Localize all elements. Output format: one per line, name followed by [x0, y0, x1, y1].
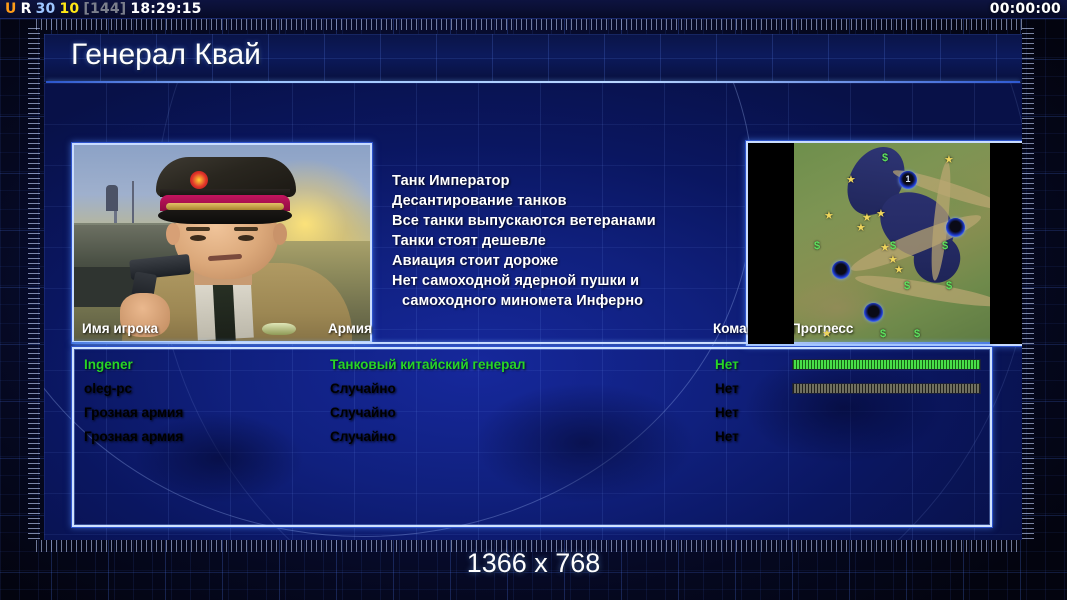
status-timer: 00:00:00	[990, 0, 1061, 19]
portrait-eyebrow	[186, 227, 210, 231]
map-preview[interactable]: 1★★★★★★★★★★$$$$$$$$	[746, 141, 1022, 346]
map-start-position	[832, 261, 850, 279]
map-start-position	[946, 218, 965, 237]
ruler-top	[36, 18, 1026, 30]
description-line: Десантирование танков	[392, 191, 728, 211]
ruler-right	[1022, 28, 1034, 540]
status-bar-left: UR3010[144]18:29:15	[5, 0, 206, 19]
table-row[interactable]: IngenerТанковый китайский генералНет	[74, 353, 990, 377]
page-title: Генерал Квай	[71, 38, 261, 72]
status-prefix-u: U	[5, 1, 17, 17]
map-tech-building-icon: ★	[824, 211, 834, 222]
map-tech-building-icon: ★	[876, 209, 886, 220]
description-line: Танк Император	[392, 171, 728, 191]
map-tech-building-icon: ★	[856, 223, 866, 234]
cell-team: Нет	[715, 401, 739, 425]
table-row[interactable]: oleg-pcСлучайноНет	[74, 377, 990, 401]
portrait-cap-badge	[190, 171, 208, 189]
status-value-yellow: 10	[59, 1, 79, 17]
progress-bar	[792, 359, 981, 370]
description-line: самоходного миномета Инферно	[392, 291, 728, 311]
map-supply-icon: $	[942, 241, 948, 252]
cell-team: Нет	[715, 425, 739, 449]
overlay-status-bar: UR3010[144]18:29:15 00:00:00	[0, 0, 1067, 19]
map-supply-icon: $	[882, 153, 888, 164]
description-line: Авиация стоит дороже	[392, 251, 728, 271]
map-tech-building-icon: ★	[944, 155, 954, 166]
map-tech-building-icon: ★	[822, 329, 832, 340]
cell-team: Нет	[715, 353, 739, 377]
progress-bar	[792, 383, 981, 394]
map-tech-building-icon: ★	[880, 243, 890, 254]
cell-army: Танковый китайский генерал	[330, 353, 526, 377]
portrait-ear	[166, 223, 180, 245]
map-supply-icon: $	[890, 241, 896, 252]
portrait-eye	[190, 235, 206, 241]
status-bracket-value: [144]	[83, 1, 126, 17]
status-clock: 18:29:15	[130, 1, 201, 17]
map-supply-icon: $	[904, 281, 910, 292]
column-header-player: Имя игрока	[82, 321, 158, 336]
general-info-row: Танк Император Десантирование танков Все…	[44, 83, 1022, 308]
status-value-blue: 30	[36, 1, 56, 17]
window-title-bar: Генерал Квай	[44, 34, 1022, 82]
cell-player-name: Ingener	[84, 353, 133, 377]
footer: 1366 x 768	[0, 548, 1067, 592]
cell-player-name: Грозная армия	[84, 425, 183, 449]
portrait-cap-gold-cord	[166, 203, 284, 210]
table-header-separator	[72, 342, 992, 344]
ruler-left	[28, 28, 40, 540]
window-body: Танк Император Десантирование танков Все…	[44, 83, 1022, 540]
player-list-panel[interactable]: IngenerТанковый китайский генералНетoleg…	[72, 347, 992, 527]
map-letterbox-left	[748, 143, 794, 344]
lobby-window: Генерал Квай	[44, 34, 1022, 540]
cell-player-name: Грозная армия	[84, 401, 183, 425]
map-start-position: 1	[899, 171, 917, 189]
map-supply-icon: $	[880, 329, 886, 340]
game-lobby-screen: UR3010[144]18:29:15 00:00:00 Генерал Ква…	[0, 0, 1067, 600]
column-header-army: Армия	[328, 321, 372, 336]
map-tech-building-icon: ★	[846, 175, 856, 186]
map-supply-icon: $	[814, 241, 820, 252]
cell-player-name: oleg-pc	[84, 377, 132, 401]
map-start-position-label: 1	[899, 171, 917, 187]
portrait-ear	[273, 223, 287, 245]
cell-team: Нет	[715, 377, 739, 401]
progress-bar-fill	[793, 360, 980, 369]
cell-army: Случайно	[330, 377, 396, 401]
portrait-eye	[238, 235, 254, 241]
description-line: Танки стоят дешевле	[392, 231, 728, 251]
map-start-position	[864, 303, 883, 322]
description-line: Все танки выпускаются ветеранами	[392, 211, 728, 231]
description-line: Нет самоходной ядерной пушки и	[392, 271, 728, 291]
map-terrain: 1★★★★★★★★★★$$$$$$$$	[794, 143, 990, 344]
player-table-header: Имя игрока Армия Команда Прогресс	[44, 321, 1022, 343]
portrait-background-figure	[106, 185, 118, 211]
resolution-label: 1366 x 768	[467, 548, 601, 579]
table-row[interactable]: Грозная армияСлучайноНет	[74, 425, 990, 449]
map-supply-icon: $	[946, 281, 952, 292]
progress-bar-fill	[793, 384, 980, 393]
table-row[interactable]: Грозная армияСлучайноНет	[74, 401, 990, 425]
cell-army: Случайно	[330, 401, 396, 425]
general-description: Танк Император Десантирование танков Все…	[392, 143, 728, 343]
status-prefix-r: R	[21, 1, 32, 17]
map-letterbox-right	[990, 143, 1022, 344]
map-supply-icon: $	[914, 329, 920, 340]
portrait-eyebrow	[234, 227, 258, 231]
map-tech-building-icon: ★	[894, 265, 904, 276]
cell-army: Случайно	[330, 425, 396, 449]
general-portrait	[72, 143, 372, 343]
